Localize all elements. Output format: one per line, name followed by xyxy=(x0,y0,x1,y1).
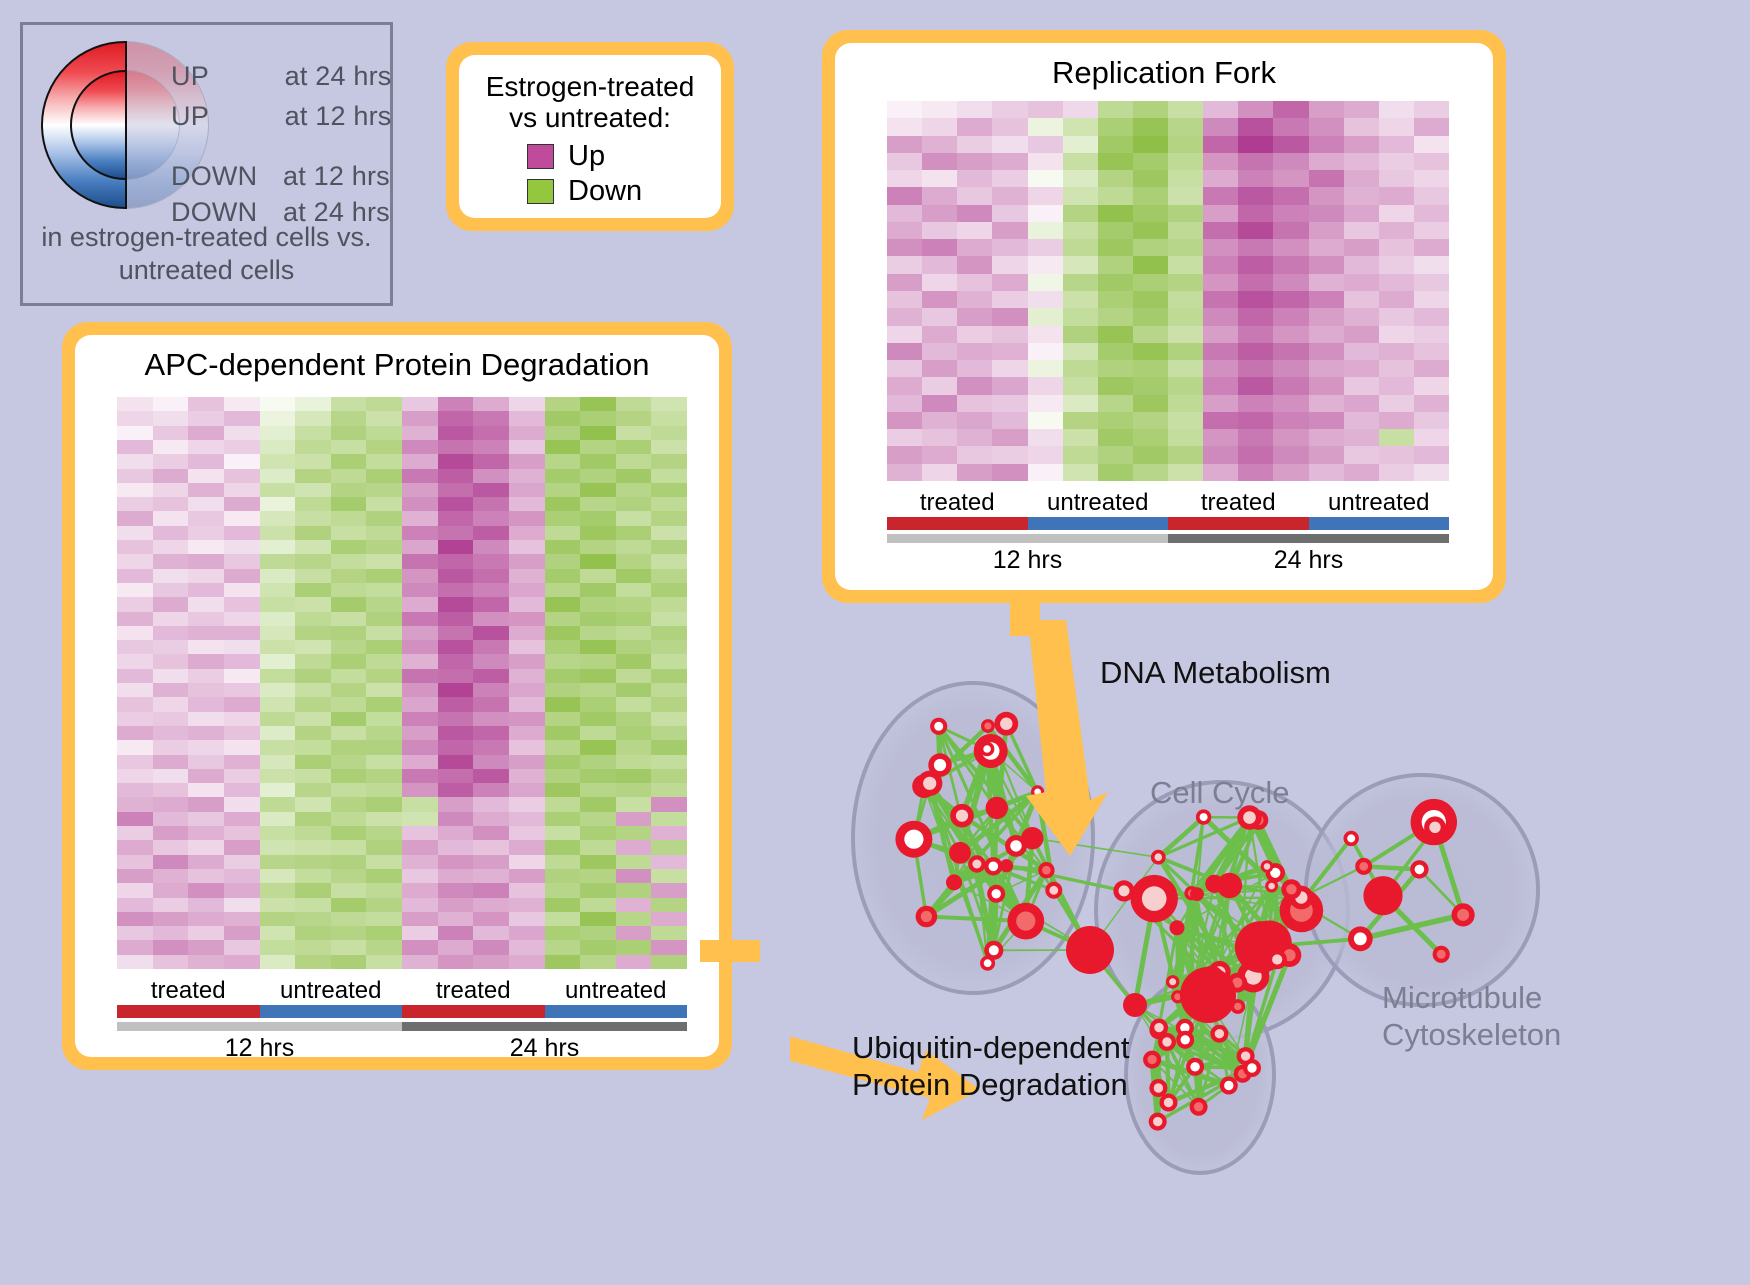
heatmap-cell xyxy=(402,669,438,683)
heatmap-cell xyxy=(545,683,581,697)
network-node[interactable] xyxy=(1363,876,1402,915)
group-label: treated xyxy=(402,977,545,1005)
heatmap-cell xyxy=(473,411,509,425)
heatmap-cell xyxy=(402,955,438,969)
heatmap-cell xyxy=(580,740,616,754)
heatmap-cell xyxy=(1238,187,1273,204)
heatmap-cell xyxy=(1273,395,1308,412)
heatmap-cell xyxy=(331,511,367,525)
heatmap-cell xyxy=(438,511,474,525)
heatmap-cell xyxy=(616,511,652,525)
heatmap-cell xyxy=(402,783,438,797)
heatmap-cell xyxy=(580,940,616,954)
heatmap-cell xyxy=(438,397,474,411)
heatmap-cell xyxy=(1379,412,1414,429)
heatmap-cell xyxy=(1309,101,1344,118)
heatmap-cell xyxy=(651,440,687,454)
heatmap-cell xyxy=(580,597,616,611)
heatmap-cell xyxy=(117,697,153,711)
heatmap-cell xyxy=(117,411,153,425)
heatmap-cell xyxy=(1414,377,1449,394)
heatmap-cell xyxy=(957,153,992,170)
heatmap-cell xyxy=(224,683,260,697)
heatmap-cell xyxy=(1273,291,1308,308)
heatmap-cell xyxy=(224,769,260,783)
heatmap-cell xyxy=(260,940,296,954)
heatmap-cell xyxy=(438,755,474,769)
heatmap-cell xyxy=(1168,412,1203,429)
heatmap-cell xyxy=(651,883,687,897)
heatmap-cell xyxy=(616,683,652,697)
heatmap-cell xyxy=(651,940,687,954)
heatmap-cell xyxy=(224,454,260,468)
network-node-core xyxy=(1154,1023,1163,1032)
network-node[interactable] xyxy=(946,874,962,890)
heatmap-cell xyxy=(1168,187,1203,204)
heatmap-cell xyxy=(1063,446,1098,463)
heatmap-cell xyxy=(473,769,509,783)
heatmap-cell xyxy=(545,740,581,754)
heatmap-cell xyxy=(651,554,687,568)
heatmap-cell xyxy=(651,769,687,783)
heatmap-cell xyxy=(509,926,545,940)
heatmap-cell xyxy=(1414,464,1449,481)
heatmap-cell xyxy=(1379,429,1414,446)
heatmap-cell xyxy=(1309,412,1344,429)
heatmap-cell xyxy=(580,654,616,668)
heatmap-cell xyxy=(922,187,957,204)
heatmap-cell xyxy=(580,454,616,468)
network-node-core xyxy=(956,810,968,822)
heatmap-cell xyxy=(224,669,260,683)
heatmap-cell xyxy=(1379,395,1414,412)
heatmap-cell xyxy=(580,397,616,411)
network-node[interactable] xyxy=(1021,827,1043,849)
heatmap-cell xyxy=(438,426,474,440)
heatmap-cell xyxy=(887,222,922,239)
network-node[interactable] xyxy=(1066,926,1114,974)
heatmap-cell xyxy=(295,511,331,525)
network-node-core xyxy=(992,889,1001,898)
heatmap-cell xyxy=(887,118,922,135)
network-node[interactable] xyxy=(1190,887,1204,901)
network-node[interactable] xyxy=(1123,993,1147,1017)
heatmap-cell xyxy=(1379,205,1414,222)
heatmap-cell xyxy=(366,912,402,926)
heatmap-cell xyxy=(153,869,189,883)
heatmap-cell xyxy=(545,497,581,511)
heatmap-cell xyxy=(224,755,260,769)
heatmap-cell xyxy=(1168,256,1203,273)
heatmap-cell xyxy=(1133,256,1168,273)
heatmap-cell xyxy=(473,940,509,954)
heatmap-cell xyxy=(1028,377,1063,394)
heatmap-cell xyxy=(295,454,331,468)
heatmap-cell xyxy=(260,612,296,626)
heatmap-cell xyxy=(580,840,616,854)
heatmap-cell xyxy=(1309,291,1344,308)
heatmap-cell xyxy=(473,397,509,411)
heatmap-cell xyxy=(260,826,296,840)
heatmap-cell xyxy=(922,360,957,377)
heatmap-cell xyxy=(1414,136,1449,153)
heatmap-cell xyxy=(188,769,224,783)
heatmap-cell xyxy=(473,526,509,540)
heatmap-cell xyxy=(887,464,922,481)
heatmap-cell xyxy=(509,955,545,969)
heatmap-cell xyxy=(153,812,189,826)
heatmap-cell xyxy=(117,454,153,468)
heatmap-cell xyxy=(188,926,224,940)
heatmap-cell xyxy=(260,840,296,854)
heatmap-cell xyxy=(366,712,402,726)
heatmap-cell xyxy=(438,955,474,969)
network-node[interactable] xyxy=(949,842,971,864)
heatmap-cell xyxy=(1063,101,1098,118)
heatmap-cell xyxy=(153,955,189,969)
heatmap-cell xyxy=(887,239,922,256)
heatmap-cell xyxy=(957,222,992,239)
heatmap-cell xyxy=(1063,377,1098,394)
heatmap-cell xyxy=(1168,205,1203,222)
heatmap-cell xyxy=(1203,101,1238,118)
heatmap-cell xyxy=(1168,222,1203,239)
heatmap-cell xyxy=(651,497,687,511)
heatmap-cell xyxy=(188,511,224,525)
heatmap-cell xyxy=(153,654,189,668)
network-node-core xyxy=(1247,1063,1256,1072)
heatmap-cell xyxy=(1309,464,1344,481)
heatmap-cell xyxy=(922,256,957,273)
heatmap-cell xyxy=(509,454,545,468)
heatmap-cell xyxy=(153,783,189,797)
heatmap-cell xyxy=(509,469,545,483)
heatmap-cell xyxy=(545,669,581,683)
network-node[interactable] xyxy=(986,797,1008,819)
cluster-label-microtubule-cytoskeleton: Microtubule Cytoskeleton xyxy=(1382,980,1561,1053)
heatmap-cell xyxy=(1414,343,1449,360)
heatmap-cell xyxy=(651,640,687,654)
heatmap-cell xyxy=(402,826,438,840)
heatmap-cell xyxy=(1028,360,1063,377)
heatmap-cell xyxy=(1203,377,1238,394)
heatmap-cell xyxy=(651,526,687,540)
heatmap-cell xyxy=(224,740,260,754)
heatmap-cell xyxy=(1414,308,1449,325)
heatmap-cell xyxy=(117,440,153,454)
heatmap-cell xyxy=(1063,136,1098,153)
heatmap-cell xyxy=(922,377,957,394)
heatmap-cell xyxy=(1379,187,1414,204)
heatmap-cell xyxy=(402,797,438,811)
heatmap-cell xyxy=(224,397,260,411)
heatmap-cell xyxy=(1238,446,1273,463)
heatmap-cell xyxy=(1133,153,1168,170)
network-node-core xyxy=(1272,954,1282,964)
heatmap-cell xyxy=(188,583,224,597)
heatmap-cell xyxy=(331,626,367,640)
heatmap-cell xyxy=(1098,464,1133,481)
figure-canvas: UP at 24 hrs UP at 12 hrs DOWN at 12 hrs… xyxy=(0,0,1750,1279)
heatmap-cell xyxy=(438,612,474,626)
heatmap-apc xyxy=(117,397,687,969)
heatmap-cell xyxy=(651,483,687,497)
heatmap-cell xyxy=(887,360,922,377)
heatmap-cell xyxy=(1414,101,1449,118)
heatmap-cell xyxy=(1028,187,1063,204)
heatmap-cell xyxy=(1168,377,1203,394)
heatmap-cell xyxy=(153,440,189,454)
down-label: Down xyxy=(568,175,642,208)
heatmap-cell xyxy=(1273,205,1308,222)
heatmap-cell xyxy=(473,898,509,912)
heatmap-cell xyxy=(295,697,331,711)
heatmap-cell xyxy=(473,869,509,883)
heatmap-cell xyxy=(957,274,992,291)
heatmap-cell xyxy=(509,654,545,668)
heatmap-cell xyxy=(117,654,153,668)
heatmap-cell xyxy=(1168,170,1203,187)
heatmap-cell xyxy=(1133,136,1168,153)
heatmap-cell xyxy=(117,769,153,783)
heatmap-cell xyxy=(153,526,189,540)
heatmap-cell xyxy=(438,654,474,668)
heatmap-cell xyxy=(260,469,296,483)
group-label: treated xyxy=(1168,489,1309,517)
heatmap-cell xyxy=(545,511,581,525)
time-color-bar xyxy=(117,1022,687,1031)
heatmap-cell xyxy=(402,597,438,611)
network-node[interactable] xyxy=(1000,859,1013,872)
heatmap-cell xyxy=(1273,256,1308,273)
heatmap-cell xyxy=(545,926,581,940)
heatmap-cell xyxy=(117,855,153,869)
heatmap-cell xyxy=(260,683,296,697)
heatmap-cell xyxy=(1273,101,1308,118)
heatmap-cell xyxy=(224,883,260,897)
heatmap-cell xyxy=(295,869,331,883)
network-node-core xyxy=(1042,866,1051,875)
heatmap-cell xyxy=(1133,446,1168,463)
heatmap-cell xyxy=(1098,395,1133,412)
heatmap-cell xyxy=(438,769,474,783)
heatmap-cell xyxy=(509,826,545,840)
heatmap-cell xyxy=(545,612,581,626)
heatmap-cell xyxy=(153,454,189,468)
network-node-core xyxy=(1243,811,1256,824)
heatmap-cell xyxy=(366,426,402,440)
network-node-core xyxy=(1200,813,1208,821)
heatmap-cell xyxy=(366,898,402,912)
heatmap-cell xyxy=(651,583,687,597)
heatmap-cell xyxy=(1273,343,1308,360)
heatmap-cell xyxy=(545,797,581,811)
heatmap-cell xyxy=(473,583,509,597)
heatmap-cell xyxy=(438,697,474,711)
heatmap-cell xyxy=(1028,205,1063,222)
heatmap-cell xyxy=(224,597,260,611)
heatmap-cell xyxy=(117,597,153,611)
heatmap-cell xyxy=(260,912,296,926)
heatmap-cell xyxy=(1309,429,1344,446)
heatmap-cell xyxy=(224,426,260,440)
heatmap-cell xyxy=(922,343,957,360)
heatmap-cell xyxy=(887,326,922,343)
heatmap-cell xyxy=(1028,136,1063,153)
time-labels: 12 hrs 24 hrs xyxy=(887,546,1449,575)
heatmap-cell xyxy=(509,769,545,783)
heatmap-cell xyxy=(260,883,296,897)
heatmap-cell xyxy=(260,569,296,583)
heatmap-cell xyxy=(224,626,260,640)
heatmap-cell xyxy=(1098,136,1133,153)
heatmap-cell xyxy=(1133,118,1168,135)
heatmap-cell xyxy=(1063,412,1098,429)
heatmap-cell xyxy=(117,497,153,511)
heatmap-cell xyxy=(188,883,224,897)
heatmap-cell xyxy=(117,712,153,726)
heatmap-cell xyxy=(473,554,509,568)
heatmap-cell xyxy=(260,955,296,969)
heatmap-cell xyxy=(295,626,331,640)
heatmap-cell xyxy=(1098,170,1133,187)
heatmap-cell xyxy=(1203,187,1238,204)
heatmap-cell xyxy=(922,153,957,170)
heatmap-cell xyxy=(545,712,581,726)
heatmap-cell xyxy=(1414,118,1449,135)
heatmap-cell xyxy=(473,569,509,583)
heatmap-cell xyxy=(1344,101,1379,118)
network-node-core xyxy=(1437,950,1446,959)
network-node[interactable] xyxy=(1180,967,1236,1023)
heatmap-cell xyxy=(473,654,509,668)
heatmap-cell xyxy=(651,612,687,626)
heatmap-cell xyxy=(295,669,331,683)
heatmap-cell xyxy=(922,412,957,429)
heatmap-cell xyxy=(331,597,367,611)
heatmap-cell xyxy=(402,869,438,883)
heatmap-cell xyxy=(366,511,402,525)
heatmap-cell xyxy=(545,426,581,440)
heatmap-cell xyxy=(509,912,545,926)
heatmap-cell xyxy=(117,397,153,411)
heatmap-cell xyxy=(224,526,260,540)
heatmap-cell xyxy=(402,940,438,954)
heatmap-cell xyxy=(331,797,367,811)
heatmap-cell xyxy=(1238,153,1273,170)
heatmap-cell xyxy=(1063,222,1098,239)
heatmap-cell xyxy=(473,426,509,440)
heatmap-cell xyxy=(402,426,438,440)
heatmap-cell xyxy=(1063,395,1098,412)
heatmap-replication xyxy=(887,101,1449,481)
heatmap-cell xyxy=(887,153,922,170)
heatmap-cell xyxy=(224,855,260,869)
heatmap-cell xyxy=(188,955,224,969)
heatmap-cell xyxy=(580,669,616,683)
heatmap-cell xyxy=(1168,291,1203,308)
cluster-label-cell-cycle: Cell Cycle xyxy=(1150,775,1290,811)
heatmap-cell xyxy=(1133,360,1168,377)
heatmap-cell xyxy=(473,926,509,940)
heatmap-cell xyxy=(1414,170,1449,187)
heatmap-cell xyxy=(1309,153,1344,170)
heatmap-cell xyxy=(1168,429,1203,446)
heatmap-cell xyxy=(651,869,687,883)
heatmap-cell xyxy=(1203,360,1238,377)
heatmap-cell xyxy=(1309,239,1344,256)
heatmap-cell xyxy=(295,683,331,697)
heatmap-cell xyxy=(1273,429,1308,446)
heatmap-cell xyxy=(188,740,224,754)
heatmap-cell xyxy=(153,855,189,869)
heatmap-cell xyxy=(1063,256,1098,273)
time-label: 12 hrs xyxy=(117,1034,402,1063)
heatmap-cell xyxy=(224,511,260,525)
heatmap-cell xyxy=(366,583,402,597)
heatmap-cell xyxy=(402,612,438,626)
heatmap-cell xyxy=(153,912,189,926)
heatmap-cell xyxy=(117,755,153,769)
heatmap-cell xyxy=(1098,153,1133,170)
heatmap-cell xyxy=(887,429,922,446)
heatmap-cell xyxy=(402,726,438,740)
heatmap-cell xyxy=(295,940,331,954)
heatmap-cell xyxy=(1379,291,1414,308)
network-node[interactable] xyxy=(1170,920,1185,935)
heatmap-cell xyxy=(260,869,296,883)
heatmap-cell xyxy=(331,454,367,468)
heatmap-cell xyxy=(117,797,153,811)
heatmap-cell xyxy=(153,826,189,840)
page-title-apc: APC-dependent Protein Degradation xyxy=(75,335,719,383)
network-node-core xyxy=(984,722,991,729)
heatmap-cell xyxy=(922,170,957,187)
heatmap-cell xyxy=(1238,205,1273,222)
heatmap-cell xyxy=(366,612,402,626)
heatmap-cell xyxy=(1414,446,1449,463)
heatmap-cell xyxy=(1168,395,1203,412)
network-node-core xyxy=(1010,840,1021,851)
heatmap-cell xyxy=(366,526,402,540)
network-node-core xyxy=(1119,885,1130,896)
heatmap-cell xyxy=(1309,205,1344,222)
heatmap-cell xyxy=(295,469,331,483)
heatmap-cell xyxy=(402,411,438,425)
heatmap-cell xyxy=(1238,377,1273,394)
heatmap-cell xyxy=(331,669,367,683)
heatmap-cell xyxy=(402,883,438,897)
heatmap-cell xyxy=(402,712,438,726)
heatmap-cell xyxy=(957,239,992,256)
heatmap-cell xyxy=(509,740,545,754)
heatmap-cell xyxy=(473,626,509,640)
heatmap-cell xyxy=(295,826,331,840)
heatmap-cell xyxy=(545,783,581,797)
heatmap-cell xyxy=(473,440,509,454)
heatmap-cell xyxy=(295,912,331,926)
network-node-core xyxy=(1347,834,1355,842)
legend-time: at 12 hrs xyxy=(283,161,390,192)
heatmap-cell xyxy=(260,583,296,597)
heatmap-cell xyxy=(616,411,652,425)
network-node[interactable] xyxy=(1217,873,1242,898)
heatmap-cell xyxy=(1168,343,1203,360)
heatmap-cell xyxy=(1309,187,1344,204)
heatmap-cell xyxy=(616,826,652,840)
heatmap-cell xyxy=(224,440,260,454)
heatmap-cell xyxy=(402,840,438,854)
